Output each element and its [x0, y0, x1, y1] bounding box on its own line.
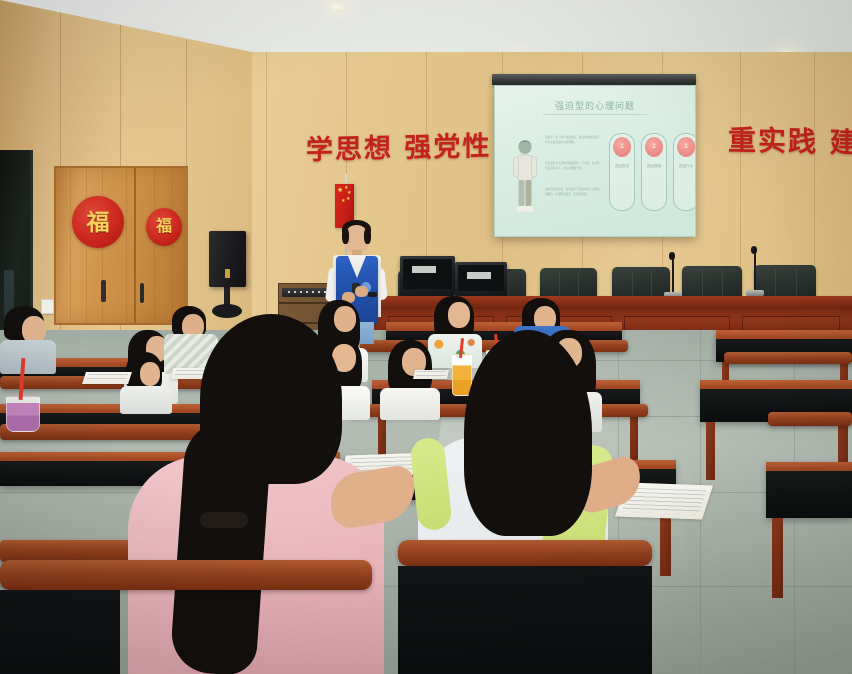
desktop-monitor[interactable]: [400, 256, 455, 296]
wooden-double-door[interactable]: 福 福: [54, 166, 188, 325]
conference-microphone-stem: [754, 253, 756, 293]
presenter-hand: [355, 286, 368, 297]
flag-star: ★: [346, 197, 350, 202]
slide-card-label: 强迫情绪: [642, 164, 666, 169]
fu-paper-cut-small: 福: [146, 208, 182, 246]
slide-card-number: 2: [645, 137, 663, 157]
student-head: [448, 302, 470, 328]
student-desk: [766, 462, 852, 518]
desk-leg: [630, 410, 638, 460]
bench-seat-back-foreground[interactable]: [0, 560, 372, 590]
light-switch[interactable]: [41, 299, 54, 314]
bench-seat-back-foreground[interactable]: [398, 540, 652, 566]
bench-seat-shadow: [398, 566, 652, 674]
slide-card-3: 3 强迫行为: [673, 133, 696, 211]
slide-card-2: 2 强迫情绪: [641, 133, 667, 211]
conference-microphone-stem: [672, 258, 674, 294]
foreground-student-hair-2: [464, 330, 592, 536]
slide-card-1: 1 强迫观念: [609, 133, 635, 211]
ceiling-downlight: [328, 2, 346, 11]
projection-screen: 强迫型的心理问题 强迫型：是一种以强迫观念、强迫冲动或强迫行为为主要表现的心理问…: [494, 85, 696, 237]
student-torso: [380, 388, 440, 420]
bench-seat-back[interactable]: [768, 412, 852, 426]
presenter-hair-side: [364, 228, 371, 244]
student-torso: [120, 386, 172, 414]
door-handle[interactable]: [140, 283, 144, 303]
desk-leg: [772, 518, 783, 598]
fu-paper-cut-large: 福: [72, 196, 124, 248]
foreground-student-ponytail: [169, 417, 273, 674]
drink-cup: [6, 396, 40, 432]
desktop-monitor[interactable]: [455, 262, 507, 298]
student-head: [334, 306, 356, 332]
conference-microphone-head: [669, 252, 675, 260]
slide-title: 强迫型的心理问题: [495, 99, 695, 112]
wall-speaker: [209, 231, 246, 287]
desk-leg: [706, 422, 715, 480]
slide-person-illustration: [511, 138, 539, 216]
conference-microphone-head: [751, 246, 757, 254]
classroom-lecture-photo: 福 福 学思想 强党性 重实践 建 强迫型的心理问题 强迫型：是一种以强迫观念、…: [0, 0, 852, 674]
slide-paragraph-3: 这种学生常常会，生活和学习活动中投入大量时间精力，出现明显痛苦、焦虑及恐慌。: [545, 188, 601, 198]
bench-seat-shadow: [0, 590, 120, 674]
slide-title-rule: [543, 114, 647, 115]
slide-card-number: 3: [677, 137, 695, 157]
bench-seat-back[interactable]: [724, 352, 852, 364]
slide-card-number: 1: [613, 137, 631, 157]
presenter-hair-side: [342, 228, 349, 244]
open-notebook: [413, 370, 449, 379]
open-notebook: [82, 372, 132, 384]
hair-tie: [200, 512, 248, 528]
slide-paragraph-2: 自己感到无法控制的重复思想、行为等，但又明知道没有意义，却无法摆脱干扰。: [545, 162, 601, 172]
slide-card-label: 强迫观念: [610, 164, 634, 169]
projector-screen-housing: [492, 74, 696, 85]
speaker-base: [212, 304, 242, 318]
slide-paragraph-1: 强迫型：是一种以强迫观念、强迫冲动或强迫行为为主要表现的心理问题。: [545, 136, 601, 146]
student-torso: [0, 340, 56, 374]
wall-slogan-right: 重实践 建: [728, 119, 852, 162]
student-head: [140, 362, 160, 386]
flag-star: ★: [341, 199, 345, 204]
presenter-wristwatch: [368, 292, 377, 297]
flag-star: ★: [337, 187, 343, 194]
wall-slogan-left: 学思想 强党性: [306, 124, 491, 167]
door-handle[interactable]: [101, 280, 106, 302]
slide-card-label: 强迫行为: [674, 164, 696, 169]
